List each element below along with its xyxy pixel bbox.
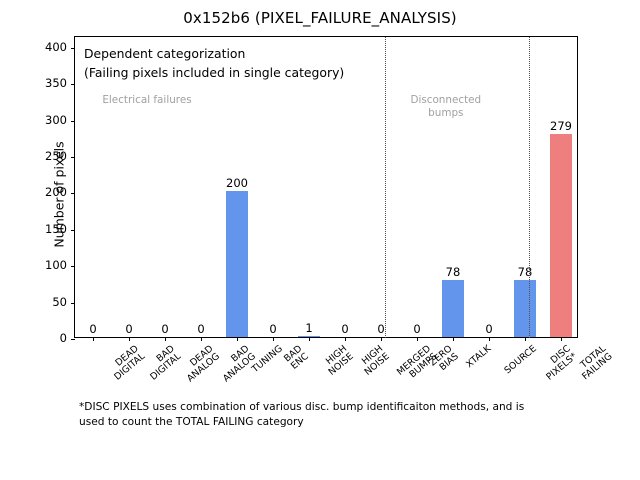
x-tick-label[interactable]: DISCPIXELS* [538, 344, 579, 383]
x-tick-label-line: SOURCE [503, 344, 539, 377]
bar[interactable] [550, 134, 572, 337]
x-tick-mark [93, 337, 94, 341]
y-tick-label: 50 [33, 297, 67, 309]
bar-value-label: 78 [507, 267, 543, 279]
x-tick-mark [489, 337, 490, 341]
annotation-heading: Dependent categorization (Failing pixels… [84, 45, 344, 83]
region-separator-line [529, 37, 530, 338]
y-tick-mark [71, 48, 75, 49]
y-tick-label: 0 [33, 333, 67, 345]
x-tick-label[interactable]: XTALK [465, 344, 494, 370]
bar-value-label: 279 [543, 121, 579, 133]
x-tick-mark [381, 337, 382, 341]
bar-value-label: 0 [75, 324, 111, 336]
bar-value-label: 0 [183, 324, 219, 336]
y-tick-mark [71, 303, 75, 304]
x-tick-label[interactable]: DEADANALOG [179, 344, 222, 385]
chart-title: 0x152b6 (PIXEL_FAILURE_ANALYSIS) [0, 9, 640, 27]
region-label-line: Electrical failures [87, 94, 207, 107]
annotation-heading-line2: (Failing pixels included in single categ… [84, 64, 344, 83]
x-tick-label[interactable]: BADDIGITAL [143, 344, 184, 383]
y-tick-label: 350 [33, 78, 67, 90]
annotation-heading-line1: Dependent categorization [84, 45, 344, 64]
x-tick-label[interactable]: ZEROBIAS [428, 344, 461, 377]
x-tick-mark [525, 337, 526, 341]
bar[interactable] [226, 191, 248, 337]
region-label-line: Disconnected [386, 94, 506, 107]
x-tick-mark [453, 337, 454, 341]
y-tick-mark [71, 157, 75, 158]
y-tick-mark [71, 121, 75, 122]
x-tick-mark [237, 337, 238, 341]
y-tick-label: 300 [33, 115, 67, 127]
plot-inner: Dependent categorization (Failing pixels… [75, 37, 577, 337]
region-label-disconnected-bumps: Disconnectedbumps [386, 94, 506, 119]
footnote-line2: used to count the TOTAL FAILING category [79, 415, 599, 430]
y-tick-mark [71, 266, 75, 267]
x-tick-mark [165, 337, 166, 341]
y-tick-label: 250 [33, 151, 67, 163]
x-tick-mark [417, 337, 418, 341]
pixel-failure-analysis-figure: 0x152b6 (PIXEL_FAILURE_ANALYSIS) Depende… [0, 0, 640, 480]
y-tick-mark [71, 339, 75, 340]
bar-value-label: 78 [435, 267, 471, 279]
bar-value-label: 0 [363, 324, 399, 336]
region-label-line: bumps [386, 107, 506, 120]
bar-value-label: 0 [255, 324, 291, 336]
bar-value-label: 1 [291, 323, 327, 335]
x-tick-mark [561, 337, 562, 341]
x-tick-label[interactable]: TOTALFAILING [574, 344, 615, 383]
plot-area: Dependent categorization (Failing pixels… [74, 36, 578, 338]
x-tick-mark [201, 337, 202, 341]
y-tick-mark [71, 230, 75, 231]
region-label-electrical-failures: Electrical failures [87, 94, 207, 107]
x-tick-mark [309, 337, 310, 341]
y-tick-label: 100 [33, 260, 67, 272]
bar-value-label: 0 [471, 324, 507, 336]
y-tick-mark [71, 84, 75, 85]
bar[interactable] [442, 280, 464, 337]
x-tick-label[interactable]: DEADDIGITAL [107, 344, 148, 383]
y-tick-label: 400 [33, 42, 67, 54]
footnote: *DISC PIXELS uses combination of various… [79, 400, 599, 430]
x-tick-mark [273, 337, 274, 341]
region-separator-line [385, 37, 386, 338]
footnote-line1: *DISC PIXELS uses combination of various… [79, 400, 599, 415]
x-tick-label-line: XTALK [465, 344, 494, 370]
bar-value-label: 200 [219, 178, 255, 190]
x-tick-mark [345, 337, 346, 341]
bar-value-label: 0 [111, 324, 147, 336]
y-tick-mark [71, 193, 75, 194]
bar-value-label: 0 [147, 324, 183, 336]
x-tick-label[interactable]: HIGHNOISE [357, 344, 392, 378]
bar[interactable] [514, 280, 536, 337]
x-tick-label[interactable]: SOURCE [503, 344, 539, 377]
x-tick-label[interactable]: BADENC [283, 344, 312, 373]
y-tick-label: 150 [33, 224, 67, 236]
bar[interactable] [298, 336, 320, 337]
bar-value-label: 0 [399, 324, 435, 336]
x-tick-mark [129, 337, 130, 341]
y-tick-label: 200 [33, 187, 67, 199]
bar-value-label: 0 [327, 324, 363, 336]
x-tick-label[interactable]: HIGHNOISE [321, 344, 356, 378]
